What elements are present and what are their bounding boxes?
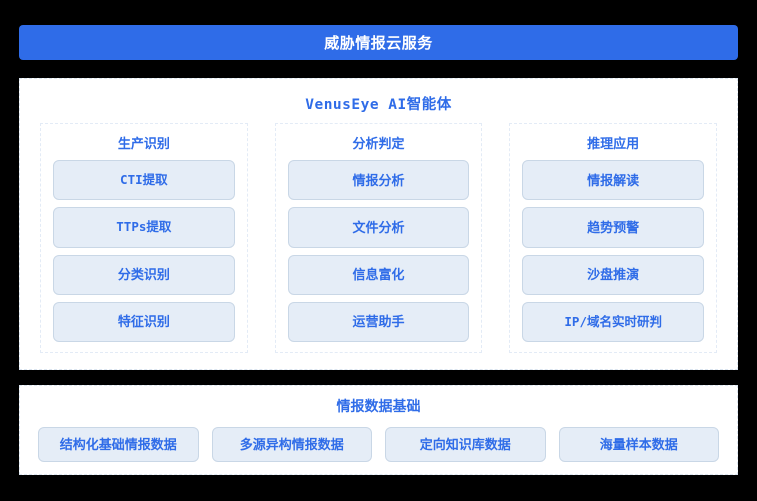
data-foundation-card: 情报数据基础 结构化基础情报数据 多源异构情报数据 定向知识库数据 海量样本数据 bbox=[19, 385, 738, 475]
agent-column-reasoning: 推理应用 情报解读 趋势预警 沙盘推演 IP/域名实时研判 bbox=[509, 123, 717, 353]
capability-pill[interactable]: TTPs提取 bbox=[53, 207, 235, 247]
capability-pill[interactable]: CTI提取 bbox=[53, 160, 235, 200]
column-items: 情报解读 趋势预警 沙盘推演 IP/域名实时研判 bbox=[522, 160, 704, 342]
capability-pill[interactable]: 文件分析 bbox=[288, 207, 470, 247]
page-title: 威胁情报云服务 bbox=[324, 32, 433, 53]
data-foundation-title: 情报数据基础 bbox=[38, 396, 719, 416]
capability-pill[interactable]: 信息富化 bbox=[288, 255, 470, 295]
capability-pill[interactable]: 运营助手 bbox=[288, 302, 470, 342]
agent-section-title: VenusEye AI智能体 bbox=[40, 93, 717, 114]
diagram-root: 威胁情报云服务 VenusEye AI智能体 生产识别 CTI提取 TTPs提取… bbox=[0, 0, 757, 501]
column-items: CTI提取 TTPs提取 分类识别 特征识别 bbox=[53, 160, 235, 342]
capability-pill[interactable]: 情报解读 bbox=[522, 160, 704, 200]
column-items: 情报分析 文件分析 信息富化 运营助手 bbox=[288, 160, 470, 342]
capability-pill[interactable]: 特征识别 bbox=[53, 302, 235, 342]
column-title: 推理应用 bbox=[522, 133, 704, 152]
capability-pill[interactable]: IP/域名实时研判 bbox=[522, 302, 704, 342]
capability-pill[interactable]: 分类识别 bbox=[53, 255, 235, 295]
agent-columns: 生产识别 CTI提取 TTPs提取 分类识别 特征识别 分析判定 情报分析 文件… bbox=[40, 123, 717, 353]
capability-pill[interactable]: 沙盘推演 bbox=[522, 255, 704, 295]
agent-column-production: 生产识别 CTI提取 TTPs提取 分类识别 特征识别 bbox=[40, 123, 248, 353]
capability-pill[interactable]: 趋势预警 bbox=[522, 207, 704, 247]
column-title: 生产识别 bbox=[53, 133, 235, 152]
data-source-pill[interactable]: 定向知识库数据 bbox=[385, 427, 546, 462]
data-source-pill[interactable]: 多源异构情报数据 bbox=[212, 427, 373, 462]
header-bar: 威胁情报云服务 bbox=[19, 25, 738, 60]
data-foundation-items: 结构化基础情报数据 多源异构情报数据 定向知识库数据 海量样本数据 bbox=[38, 427, 719, 462]
column-title: 分析判定 bbox=[288, 133, 470, 152]
agent-column-analysis: 分析判定 情报分析 文件分析 信息富化 运营助手 bbox=[275, 123, 483, 353]
data-source-pill[interactable]: 海量样本数据 bbox=[559, 427, 720, 462]
agent-section-card: VenusEye AI智能体 生产识别 CTI提取 TTPs提取 分类识别 特征… bbox=[19, 78, 738, 370]
data-source-pill[interactable]: 结构化基础情报数据 bbox=[38, 427, 199, 462]
capability-pill[interactable]: 情报分析 bbox=[288, 160, 470, 200]
